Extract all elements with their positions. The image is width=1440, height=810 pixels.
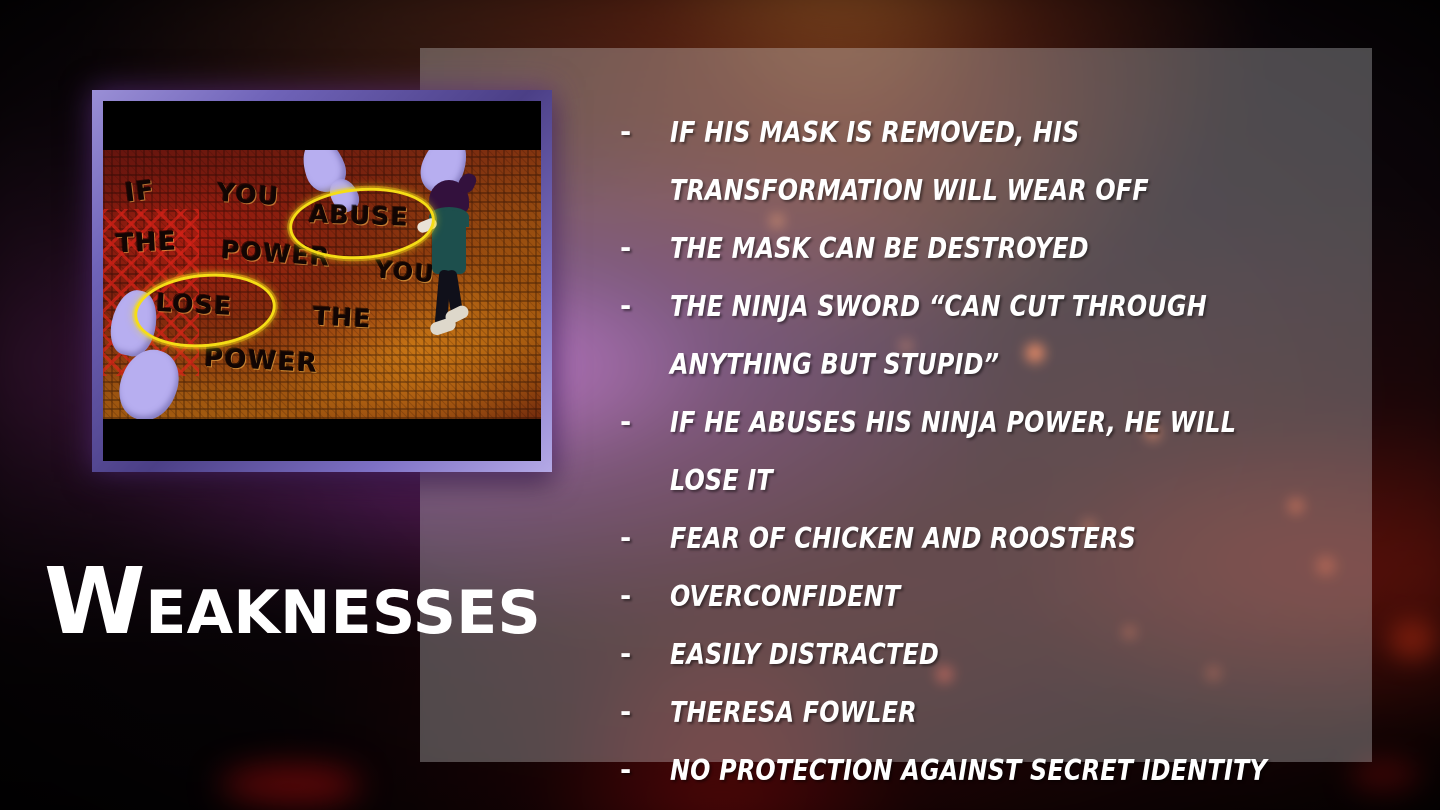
cartoon-scene: IF YOU ABUSE THE POWER YOU LOSE THE POWE… (103, 150, 541, 419)
bullet-dash: - (620, 394, 670, 452)
list-item: -IF HE ABUSES HIS NINJA POWER, HE WILL L… (620, 394, 1360, 510)
list-item-text: IF HE ABUSES HIS NINJA POWER, HE WILL LO… (670, 394, 1312, 510)
weaknesses-list: -IF HIS MASK IS REMOVED, HIS TRANSFORMAT… (620, 104, 1360, 800)
list-item-text: FEAR OF CHICKEN AND ROOSTERS (670, 510, 1312, 568)
letterbox-bottom (103, 419, 541, 461)
page-title-initial: W (44, 548, 145, 655)
list-item: -THE NINJA SWORD “CAN CUT THROUGH ANYTHI… (620, 278, 1360, 394)
bullet-dash: - (620, 684, 670, 742)
slide-stage: IF YOU ABUSE THE POWER YOU LOSE THE POWE… (0, 0, 1440, 810)
bullet-dash: - (620, 742, 670, 800)
page-title-rest: EAKNESSES (145, 578, 541, 648)
list-item: -FEAR OF CHICKEN AND ROOSTERS (620, 510, 1360, 568)
bullet-dash: - (620, 626, 670, 684)
bullet-dash: - (620, 104, 670, 162)
screenshot-frame: IF YOU ABUSE THE POWER YOU LOSE THE POWE… (92, 90, 552, 472)
list-item-text: THE MASK CAN BE DESTROYED (670, 220, 1312, 278)
scene-word-if: IF (123, 175, 156, 208)
list-item-text: OVERCONFIDENT (670, 568, 1312, 626)
list-item: -IF HIS MASK IS REMOVED, HIS TRANSFORMAT… (620, 104, 1360, 220)
list-item: -EASILY DISTRACTED (620, 626, 1360, 684)
scene-word-you-1: YOU (216, 177, 280, 210)
list-item-text: EASILY DISTRACTED (670, 626, 1312, 684)
bullet-dash: - (620, 278, 670, 336)
bullet-dash: - (620, 220, 670, 278)
scene-word-power-2: POWER (203, 343, 319, 379)
scene-word-the-2: THE (313, 302, 373, 334)
page-title: WEAKNESSES (44, 556, 541, 648)
bullet-dash: - (620, 568, 670, 626)
list-item: -THERESA FOWLER (620, 684, 1360, 742)
ninja-body (432, 210, 466, 274)
list-item-text: IF HIS MASK IS REMOVED, HIS TRANSFORMATI… (670, 104, 1312, 220)
list-item-text: THE NINJA SWORD “CAN CUT THROUGH ANYTHIN… (670, 278, 1312, 394)
bullet-dash: - (620, 510, 670, 568)
list-item: -THE MASK CAN BE DESTROYED (620, 220, 1360, 278)
list-item-text: NO PROTECTION AGAINST SECRET IDENTITY (670, 742, 1312, 800)
list-item: -NO PROTECTION AGAINST SECRET IDENTITY (620, 742, 1360, 800)
list-item: -OVERCONFIDENT (620, 568, 1360, 626)
scene-word-the-1: THE (115, 226, 178, 259)
list-item-text: THERESA FOWLER (670, 684, 1312, 742)
screenshot-inner: IF YOU ABUSE THE POWER YOU LOSE THE POWE… (103, 101, 541, 461)
letterbox-top (103, 101, 541, 150)
